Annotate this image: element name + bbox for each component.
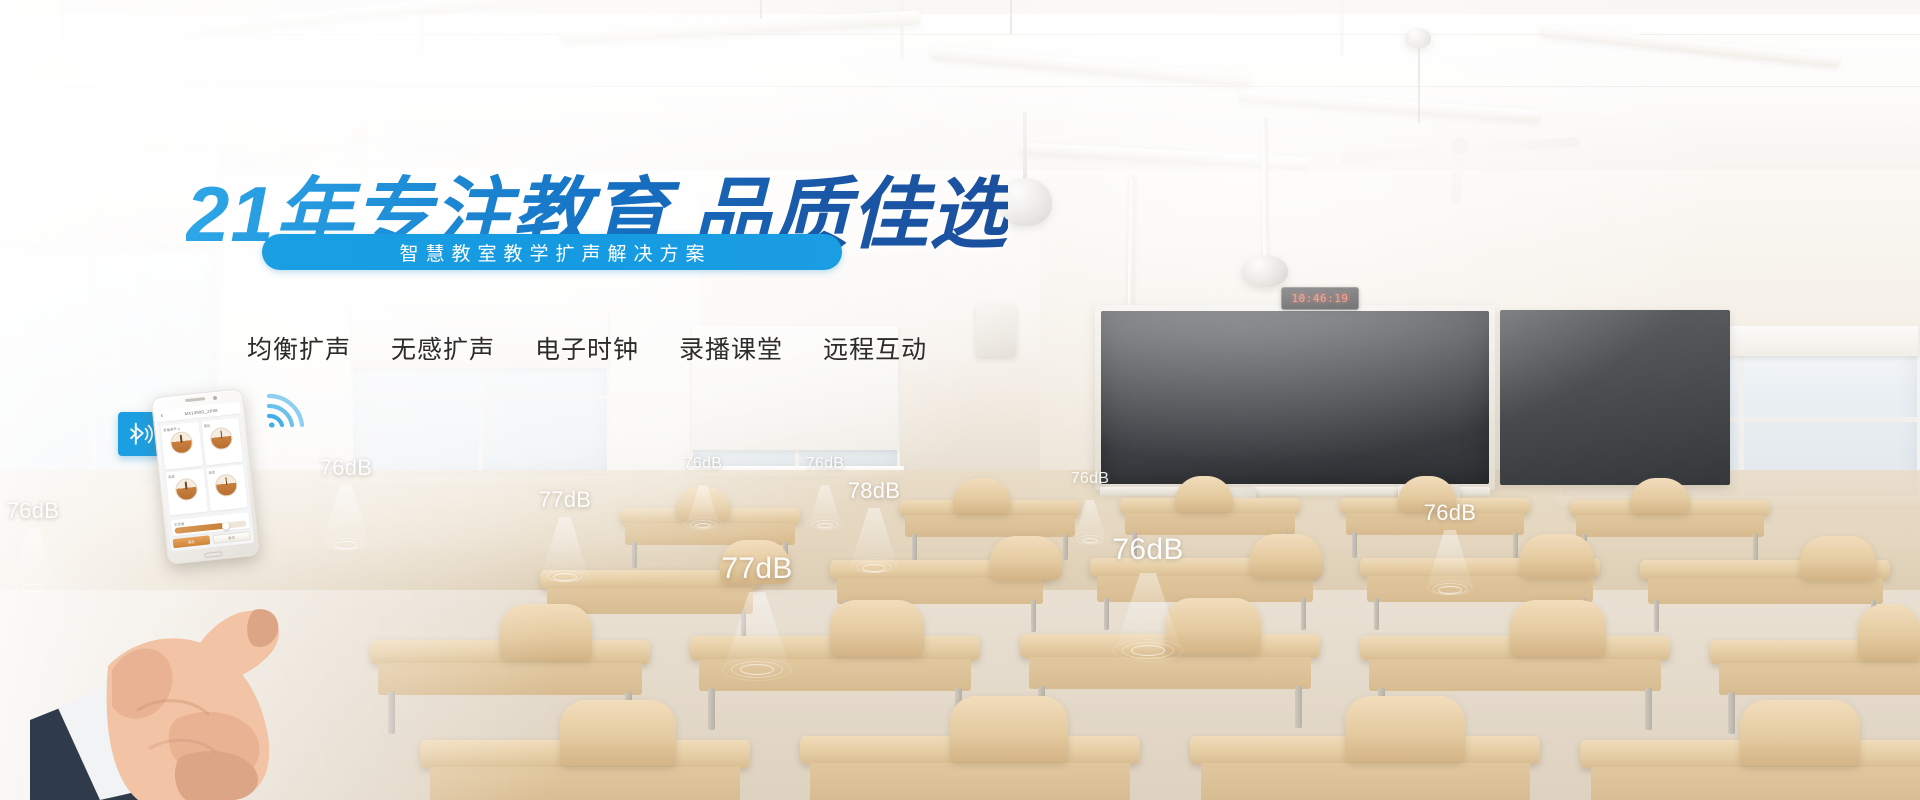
subtitle-pill-label: 智慧教室教学扩声解决方案	[392, 239, 711, 266]
sound-marker-db-right-low: 76dB	[1088, 533, 1208, 663]
banner-stage: 10:46:19	[0, 0, 1920, 800]
wifi-waves-icon	[263, 385, 311, 429]
rotary-dial-control[interactable]	[210, 426, 234, 450]
db-label: 77dB	[539, 487, 592, 513]
sound-marker-db-mid-right: 76dB	[673, 455, 733, 585]
subtitle-pill: 智慧教室教学扩声解决方案	[262, 234, 842, 270]
db-label: 76dB	[684, 455, 723, 473]
hand-holding-phone	[30, 470, 390, 800]
chair	[1510, 600, 1606, 656]
chair	[1630, 478, 1690, 514]
feature-list: 均衡扩声无感扩声电子时钟录播课堂远程互动	[247, 330, 927, 366]
sound-cone	[724, 592, 790, 668]
speaker-pole	[1023, 112, 1027, 182]
app-control-card[interactable]: 增益	[201, 418, 243, 465]
sound-marker-db-far-right: 76dB	[1407, 500, 1493, 630]
db-label: 76dB	[1071, 470, 1110, 488]
chair	[990, 536, 1062, 580]
chair	[1250, 534, 1322, 578]
chair	[950, 696, 1068, 762]
sound-ripple	[1427, 580, 1473, 595]
chair	[953, 478, 1011, 514]
feature-item-4: 录播课堂	[679, 330, 783, 366]
blackboard	[1095, 305, 1495, 490]
feature-item-3: 电子时钟	[535, 330, 639, 366]
ceiling-speaker	[1242, 255, 1288, 287]
sound-ripple	[542, 567, 588, 582]
clock-time: 10:46:19	[1292, 292, 1349, 305]
chair	[1520, 534, 1594, 578]
app-control-card[interactable]: 音量调节 A	[161, 422, 203, 469]
sound-cone	[1115, 573, 1181, 649]
chair	[1740, 700, 1860, 766]
db-label: 76dB	[1424, 500, 1477, 526]
electronic-clock: 10:46:19	[1281, 287, 1359, 310]
ceiling-fan	[1330, 120, 1590, 170]
feature-item-5: 远程互动	[823, 330, 927, 366]
chair	[830, 600, 924, 656]
sound-marker-db-center: 77dB	[522, 487, 608, 617]
blackboard-right-panel	[1500, 310, 1730, 485]
chair	[560, 700, 676, 766]
chair	[1800, 536, 1876, 580]
sound-ripple	[1113, 639, 1183, 662]
app-card-label: 增益	[203, 423, 210, 429]
db-label: 76dB	[806, 455, 845, 473]
db-label: 78dB	[848, 478, 901, 504]
ceiling-fan-motor	[1405, 28, 1431, 48]
sound-marker-db-right: 78dB	[831, 478, 917, 608]
sound-ripple	[722, 658, 792, 681]
light-cord	[1010, 0, 1012, 34]
db-label: 76dB	[1112, 533, 1183, 567]
sound-ripple	[851, 558, 897, 573]
sound-ripple	[684, 517, 722, 530]
chevron-left-icon[interactable]: ‹	[160, 412, 163, 419]
chair	[1345, 696, 1465, 762]
chair	[1175, 476, 1233, 512]
feature-item-2: 无感扩声	[391, 330, 495, 366]
chair	[1858, 604, 1920, 660]
rotary-dial-control[interactable]	[169, 431, 193, 455]
feature-item-1: 均衡扩声	[247, 330, 351, 366]
wall-control-box	[976, 305, 1016, 357]
